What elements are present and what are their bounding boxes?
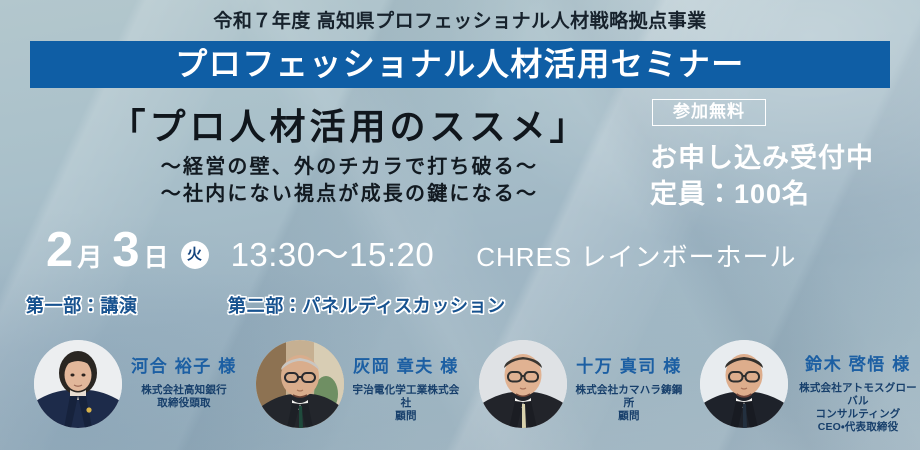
portrait-photo-suzuki (700, 340, 788, 428)
speaker-info: 河合 裕子 様 株式会社高知銀行 取締役頭取 (128, 352, 240, 410)
speaker-role: 顧問 (573, 410, 685, 423)
speaker-role: 取締役頭取 (128, 397, 240, 410)
portrait-photo-haioka (256, 340, 344, 428)
speaker-name: 河合 裕子 様 (128, 352, 240, 377)
headline-sub-1: 〜経営の壁、外のチカラで打ち破る〜 (62, 150, 637, 179)
date-time-venue-row: 2 月 3 日 火 13:30〜15:20 CHRES レインボーホール (46, 222, 796, 278)
headline-sub-2: 〜社内にない視点が成長の鍵になる〜 (62, 177, 637, 206)
banner-title-bar: プロフェッショナル人材活用セミナー (30, 41, 890, 88)
speaker-name: 鈴木 啓悟 様 (796, 350, 920, 375)
event-time: 13:30〜15:20 (231, 228, 435, 276)
speaker-org: 株式会社アトモスグローバルコンサルティング (796, 382, 920, 421)
section-label-part-2: 第二部：パネルディスカッション (228, 292, 506, 318)
speaker-name: 十万 真司 様 (573, 352, 685, 377)
seminar-poster: 令和７年度 高知県プロフェッショナル人材戦略拠点事業 プロフェッショナル人材活用… (0, 0, 920, 450)
speaker-list: 河合 裕子 様 株式会社高知銀行 取締役頭取 (0, 330, 920, 450)
portrait-photo-kawai (34, 340, 122, 428)
capacity-text: 定員：100名 (650, 172, 810, 211)
free-admission-badge: 参加無料 (652, 99, 766, 126)
registration-status: お申し込み受付中 (650, 136, 874, 175)
banner-title-text: プロフェッショナル人材活用セミナー (30, 41, 890, 88)
speaker-name: 灰岡 章夫 様 (350, 352, 462, 377)
portrait-photo-juman (479, 340, 567, 428)
section-label-part-1: 第一部：講演 (26, 292, 138, 318)
speaker-org: 株式会社カマハラ鋳鋼所 (573, 384, 685, 410)
headline-main: 「プロ人材活用のススメ」 (62, 98, 637, 150)
event-venue: CHRES レインボーホール (476, 237, 796, 274)
program-kicker: 令和７年度 高知県プロフェッショナル人材戦略拠点事業 (0, 6, 920, 33)
speaker-role: CEO・代表取締役 (796, 421, 920, 434)
event-day-unit: 日 (144, 238, 169, 274)
free-admission-label: 参加無料 (653, 100, 765, 124)
speaker-info: 鈴木 啓悟 様 株式会社アトモスグローバルコンサルティング CEO・代表取締役 (796, 350, 920, 435)
event-day-number: 3 (112, 222, 140, 278)
day-of-week-badge: 火 (181, 241, 209, 269)
speaker-card: 灰岡 章夫 様 宇治電化学工業株式会社 顧問 (240, 330, 462, 450)
speaker-info: 灰岡 章夫 様 宇治電化学工業株式会社 顧問 (350, 352, 462, 423)
day-of-week-label: 火 (187, 247, 202, 262)
speaker-role: 顧問 (350, 410, 462, 423)
speaker-info: 十万 真司 様 株式会社カマハラ鋳鋼所 顧問 (573, 352, 685, 423)
speaker-org: 宇治電化学工業株式会社 (350, 384, 462, 410)
event-month-unit: 月 (77, 238, 102, 274)
event-month-number: 2 (46, 222, 74, 278)
speaker-card: 鈴木 啓悟 様 株式会社アトモスグローバルコンサルティング CEO・代表取締役 (684, 330, 920, 450)
speaker-org: 株式会社高知銀行 (128, 384, 240, 397)
speaker-card: 河合 裕子 様 株式会社高知銀行 取締役頭取 (18, 330, 240, 450)
speaker-card: 十万 真司 様 株式会社カマハラ鋳鋼所 顧問 (463, 330, 685, 450)
